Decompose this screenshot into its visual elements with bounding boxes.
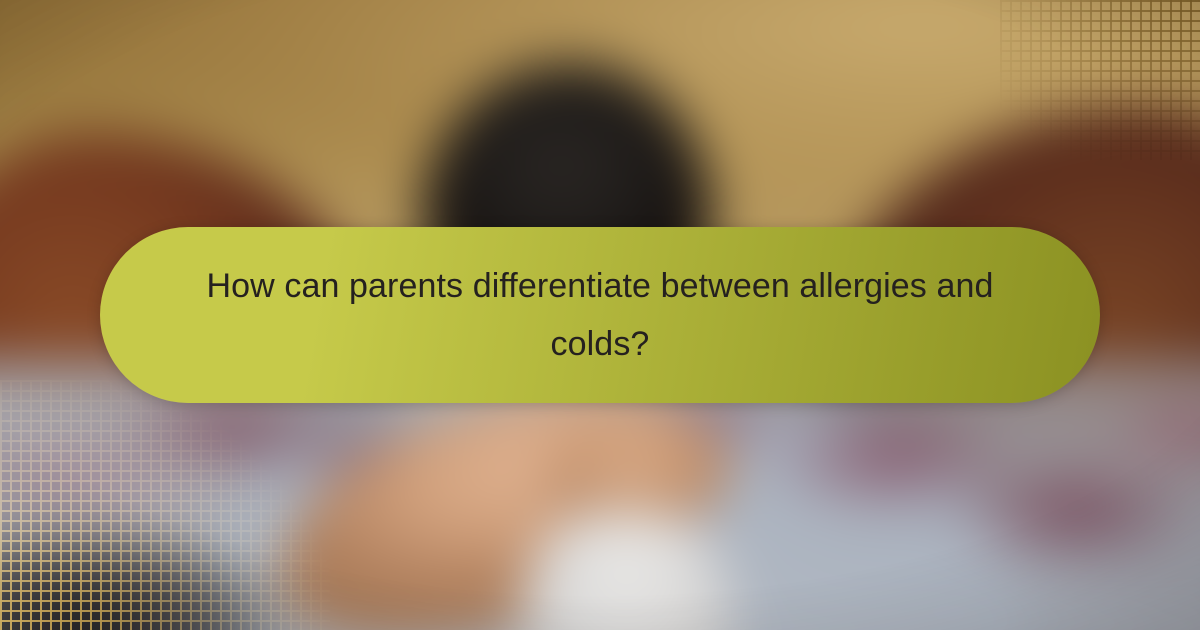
question-pill: How can parents differentiate between al… (100, 227, 1100, 403)
question-text: How can parents differentiate between al… (192, 257, 1008, 374)
question-card: How can parents differentiate between al… (0, 0, 1200, 630)
